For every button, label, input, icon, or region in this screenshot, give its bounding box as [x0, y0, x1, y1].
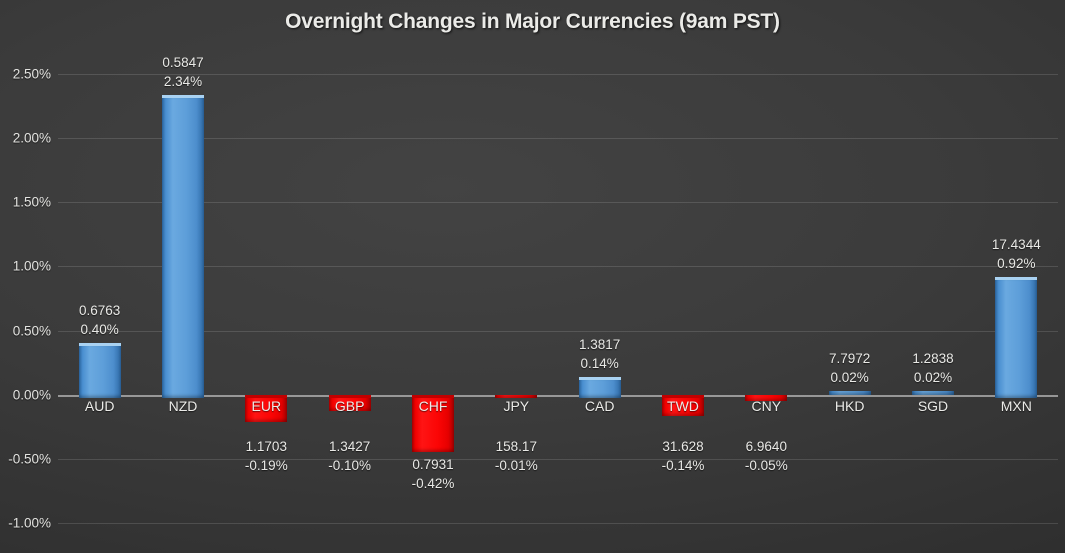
bar-category-eur[interactable]: 1.1703-0.19%EUR [225, 74, 308, 523]
bar-percent-value: -0.14% [662, 456, 705, 475]
x-axis-category-label: TWD [667, 398, 699, 414]
y-axis-tick-label: 0.50% [0, 323, 51, 338]
bar-rate-value: 0.7931 [412, 455, 455, 474]
bar-aud[interactable] [79, 343, 121, 397]
x-axis-category-label: GBP [335, 398, 365, 414]
bar-mxn[interactable] [995, 277, 1037, 398]
y-axis-tick-label: 1.50% [0, 195, 51, 210]
bar-category-hkd[interactable]: 7.79720.02%HKD [808, 74, 891, 523]
bar-value-label-gbp: 1.3427-0.10% [328, 437, 371, 475]
bar-value-label-nzd: 0.58472.34% [162, 53, 203, 91]
bar-value-label-hkd: 7.79720.02% [829, 349, 870, 387]
chart-title: Overnight Changes in Major Currencies (9… [0, 10, 1065, 34]
bar-value-label-mxn: 17.43440.92% [992, 235, 1041, 273]
bar-percent-value: 0.40% [79, 320, 120, 339]
x-axis-category-label: HKD [835, 398, 865, 414]
plot-area: 2.50%2.00%1.50%1.00%0.50%0.00%-0.50%-1.0… [58, 74, 1058, 523]
bar-value-label-aud: 0.67630.40% [79, 301, 120, 339]
bar-value-label-twd: 31.628-0.14% [662, 437, 705, 475]
bar-value-label-jpy: 158.17-0.01% [495, 437, 538, 475]
bar-value-label-eur: 1.1703-0.19% [245, 437, 288, 475]
gridline [58, 523, 1058, 524]
x-axis-category-label: NZD [169, 398, 198, 414]
bar-rate-value: 1.1703 [245, 437, 288, 456]
bar-category-sgd[interactable]: 1.28380.02%SGD [891, 74, 974, 523]
bar-percent-value: -0.42% [412, 474, 455, 493]
bar-category-chf[interactable]: 0.7931-0.42%CHF [391, 74, 474, 523]
bar-rate-value: 7.7972 [829, 349, 870, 368]
bar-rate-value: 158.17 [495, 437, 538, 456]
bar-rate-value: 0.5847 [162, 53, 203, 72]
bar-value-label-sgd: 1.28380.02% [912, 349, 953, 387]
bar-percent-value: -0.10% [328, 456, 371, 475]
bar-nzd[interactable] [162, 95, 204, 398]
bar-rate-value: 17.4344 [992, 235, 1041, 254]
bar-percent-value: 2.34% [162, 72, 203, 91]
x-axis-category-label: CHF [419, 398, 448, 414]
bar-sgd[interactable] [912, 391, 954, 395]
bar-category-jpy[interactable]: 158.17-0.01%JPY [475, 74, 558, 523]
bar-category-nzd[interactable]: 0.58472.34%NZD [141, 74, 224, 523]
x-axis-category-label: MXN [1001, 398, 1032, 414]
x-axis-category-label: SGD [918, 398, 948, 414]
bar-value-label-cad: 1.38170.14% [579, 335, 620, 373]
bar-category-cny[interactable]: 6.9640-0.05%CNY [725, 74, 808, 523]
bar-rate-value: 1.3817 [579, 335, 620, 354]
bar-rate-value: 6.9640 [745, 437, 788, 456]
y-axis-tick-label: 2.00% [0, 131, 51, 146]
x-axis-category-label: CNY [752, 398, 782, 414]
y-axis-tick-label: -1.00% [0, 516, 51, 531]
bar-rate-value: 1.3427 [328, 437, 371, 456]
bar-category-mxn[interactable]: 17.43440.92%MXN [975, 74, 1058, 523]
y-axis-tick-label: 1.00% [0, 259, 51, 274]
bar-percent-value: -0.19% [245, 456, 288, 475]
bar-value-label-cny: 6.9640-0.05% [745, 437, 788, 475]
bar-category-twd[interactable]: 31.628-0.14%TWD [641, 74, 724, 523]
y-axis-tick-label: -0.50% [0, 451, 51, 466]
bar-percent-value: -0.01% [495, 456, 538, 475]
bar-percent-value: -0.05% [745, 456, 788, 475]
bar-value-label-chf: 0.7931-0.42% [412, 455, 455, 493]
bar-percent-value: 0.92% [992, 254, 1041, 273]
bar-rate-value: 1.2838 [912, 349, 953, 368]
bar-category-aud[interactable]: 0.67630.40%AUD [58, 74, 141, 523]
bar-cad[interactable] [579, 377, 621, 398]
x-axis-category-label: CAD [585, 398, 615, 414]
x-axis-category-label: JPY [503, 398, 529, 414]
bar-category-gbp[interactable]: 1.3427-0.10%GBP [308, 74, 391, 523]
currency-change-bar-chart: Overnight Changes in Major Currencies (9… [0, 0, 1065, 553]
y-axis-tick-label: 2.50% [0, 67, 51, 82]
bar-percent-value: 0.02% [829, 368, 870, 387]
bar-rate-value: 0.6763 [79, 301, 120, 320]
bar-hkd[interactable] [829, 391, 871, 395]
y-axis-tick-label: 0.00% [0, 387, 51, 402]
x-axis-category-label: AUD [85, 398, 115, 414]
bar-category-cad[interactable]: 1.38170.14%CAD [558, 74, 641, 523]
bar-percent-value: 0.02% [912, 368, 953, 387]
x-axis-category-label: EUR [252, 398, 282, 414]
bar-rate-value: 31.628 [662, 437, 705, 456]
bar-percent-value: 0.14% [579, 354, 620, 373]
